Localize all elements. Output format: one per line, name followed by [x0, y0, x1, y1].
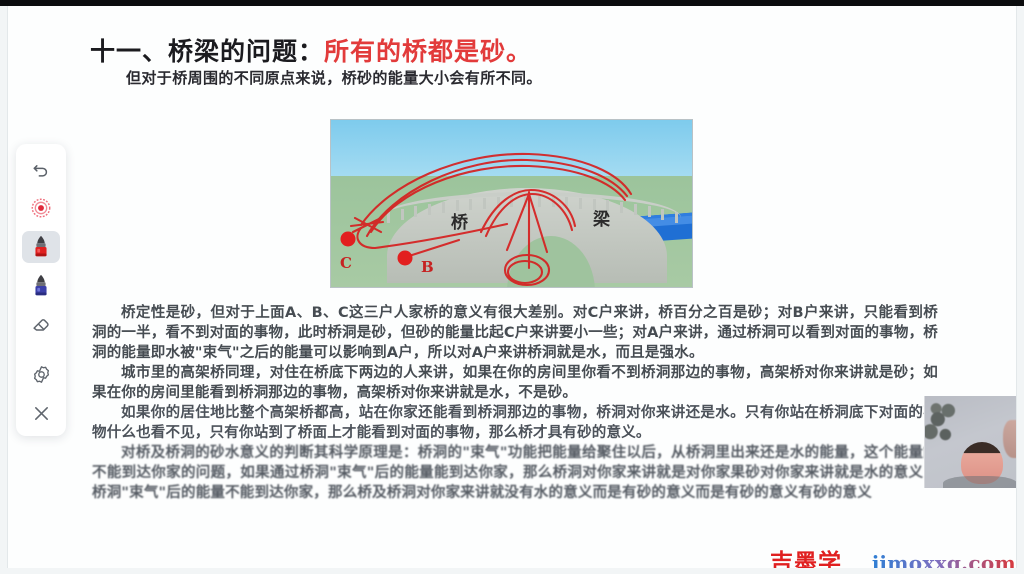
page-title-highlight: 所有的桥都是砂。: [324, 37, 532, 66]
undo-icon: [31, 160, 51, 180]
document-body: 桥定性是砂，但对于上面A、B、C这三户人家桥的意义有很大差别。对C户来讲，桥百分…: [92, 303, 938, 503]
record-button[interactable]: [22, 193, 60, 225]
red-pen-icon: [31, 235, 51, 259]
annotation-toolbar: [16, 144, 66, 436]
eraser-button[interactable]: [22, 308, 60, 340]
undo-button[interactable]: [22, 154, 60, 186]
figure-red-annotations: C B: [331, 120, 693, 288]
record-icon: [30, 197, 52, 219]
paragraph-1: 桥定性是砂，但对于上面A、B、C这三户人家桥的意义有很大差别。对C户来讲，桥百分…: [92, 303, 938, 363]
settings-button[interactable]: [22, 359, 60, 391]
blue-pen-icon: [31, 274, 51, 298]
page-subtitle: 但对于桥周围的不同原点来说，桥砂的能量大小会有所不同。: [126, 67, 542, 88]
paragraph-4: 对桥及桥洞的砂水意义的判断其科学原理是：桥洞的"束气"功能把能量给聚住以后，从桥…: [92, 443, 938, 503]
watermark: 吉墨学习阁 jimoxxg.com: [770, 543, 1016, 568]
watermark-brand: 吉墨学习阁: [770, 543, 863, 568]
figure-point-b-label: B: [421, 258, 434, 276]
webcam-overlay[interactable]: [924, 396, 1017, 488]
page-title: 十一、桥梁的问题：所有的桥都是砂。: [90, 32, 532, 68]
eraser-icon: [30, 313, 52, 335]
watermark-url: jimoxxg.com: [872, 551, 1016, 568]
close-button[interactable]: [22, 397, 60, 429]
webcam-background-foliage: [924, 400, 963, 448]
webcam-shoulder: [943, 476, 1017, 488]
blue-pen-button[interactable]: [22, 270, 60, 302]
paragraph-2: 城市里的高架桥同理，对住在桥底下两边的人来讲，如果在你的房间里你看不到桥洞那边的…: [92, 363, 938, 403]
document-page: 十一、桥梁的问题：所有的桥都是砂。 但对于桥周围的不同原点来说，桥砂的能量大小会…: [7, 6, 1017, 568]
gear-icon: [31, 364, 52, 385]
bridge-diagram-figure: 桥 梁 C: [330, 119, 693, 288]
figure-point-c-label: C: [340, 254, 352, 272]
paragraph-3: 如果你的居住地比整个高架桥都高，站在你家还能看到桥洞那边的事物，桥洞对你来讲还是…: [92, 403, 938, 443]
red-pen-button[interactable]: [22, 231, 60, 263]
page-title-prefix: 十一、桥梁的问题：: [90, 37, 324, 66]
webcam-arm: [1003, 420, 1017, 458]
close-icon: [31, 403, 52, 424]
